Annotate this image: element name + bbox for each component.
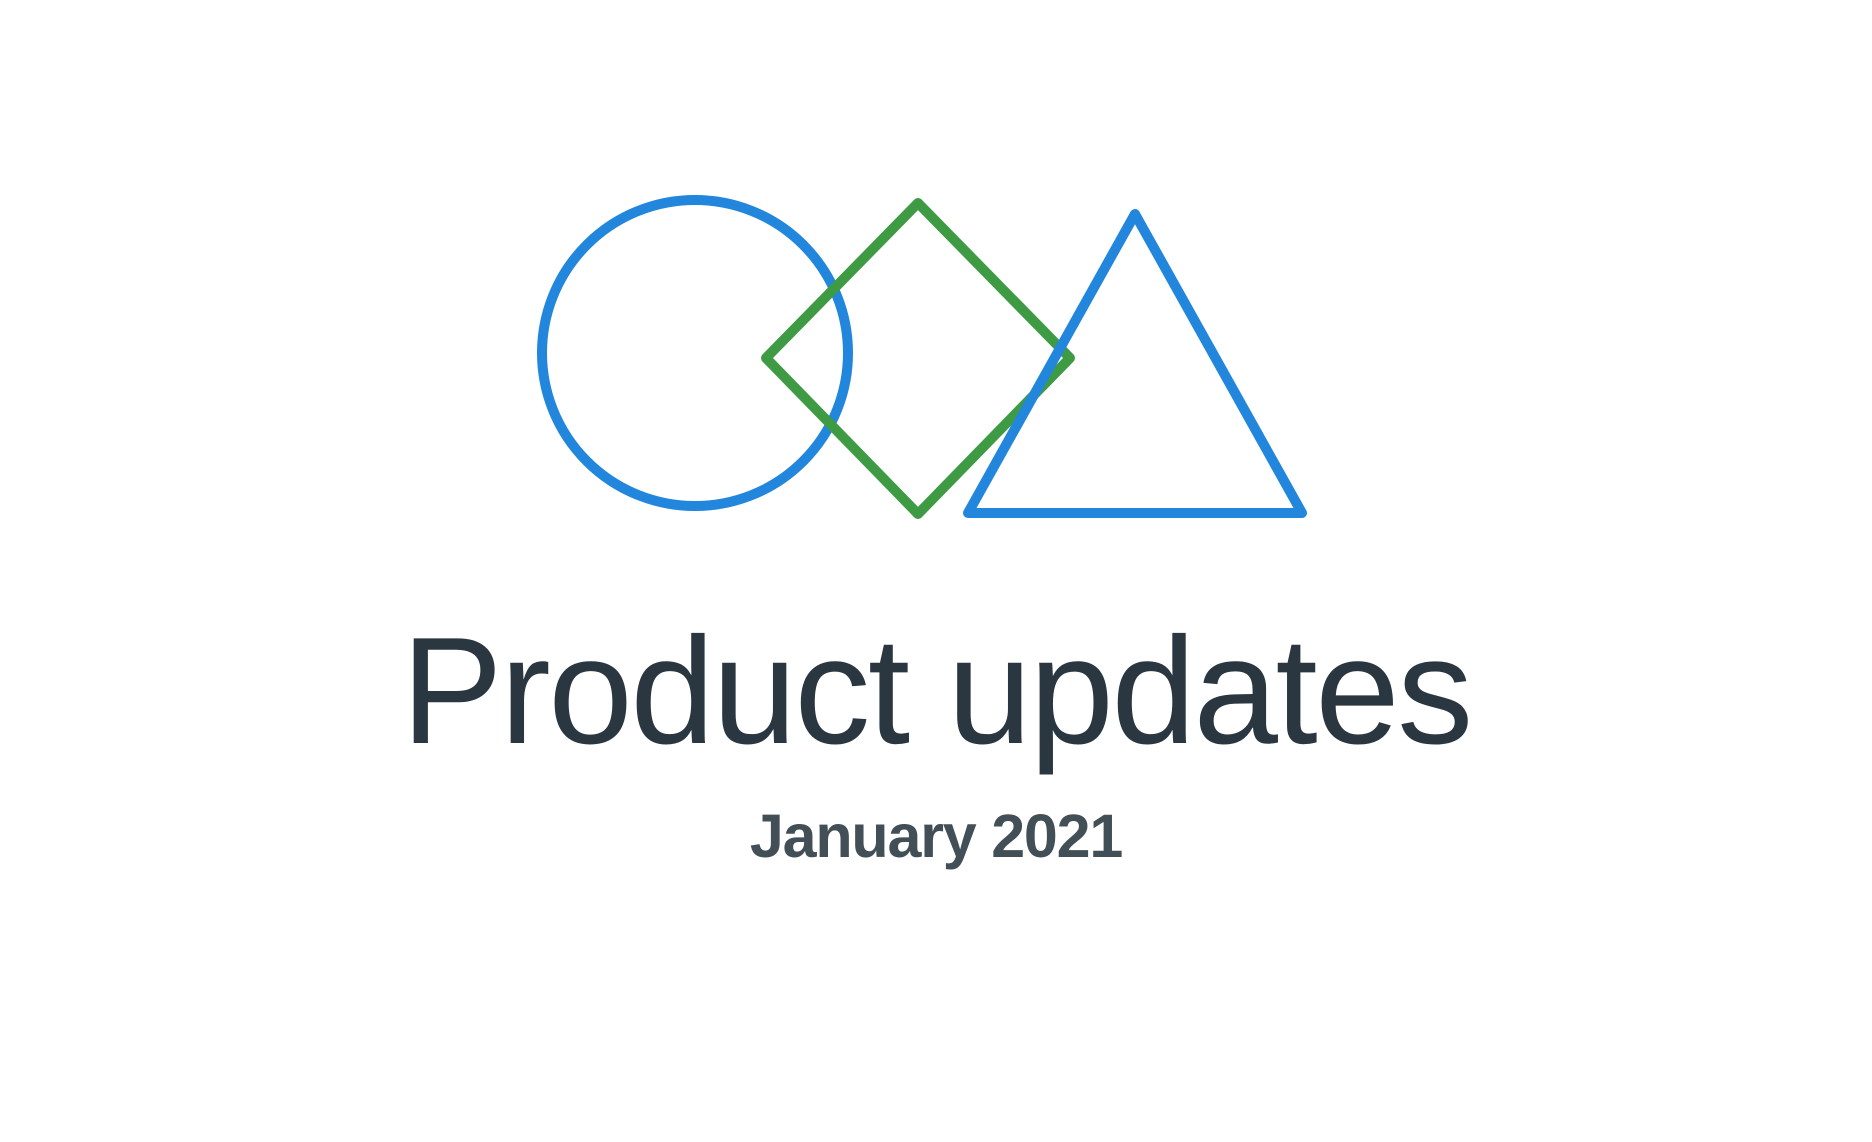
circle-shape [542,200,848,506]
diamond-shape [766,203,1070,514]
logo-svg [0,0,1872,600]
page-subtitle: January 2021 [0,770,1872,868]
three-shapes-logo [0,0,1872,600]
triangle-shape [968,214,1302,513]
page-title: Product updates [0,612,1872,770]
headline-block: Product updates January 2021 [0,612,1872,868]
product-updates-slide: Product updates January 2021 [0,0,1872,1142]
